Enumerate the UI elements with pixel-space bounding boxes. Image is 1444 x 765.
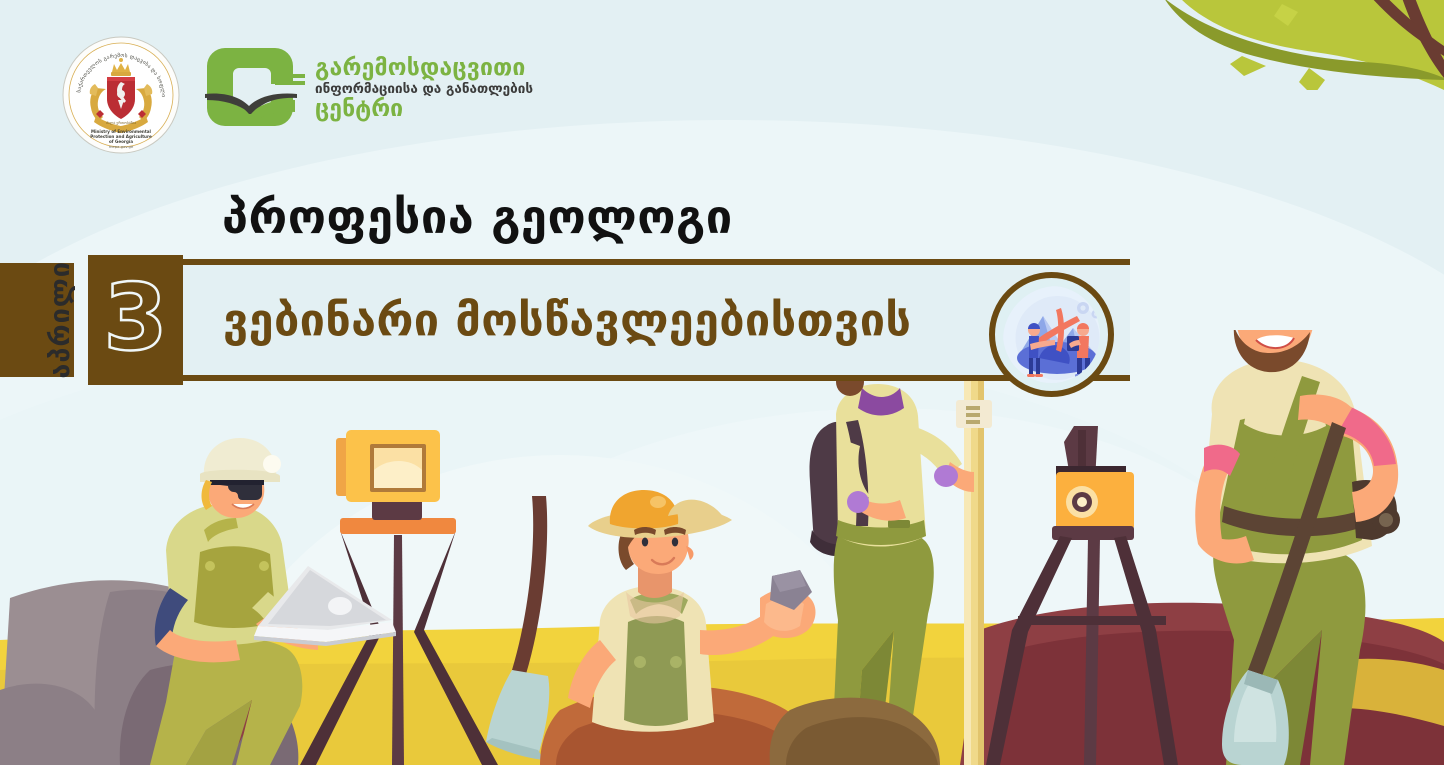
day-number-box: 3 xyxy=(88,255,183,385)
eiec-logo: გარემოსდაცვითი ინფორმაციისა და განათლები… xyxy=(205,44,533,132)
banner-canvas: საქართველოს გარემოს დაცვისა და სოფლის მე… xyxy=(0,0,1444,765)
month-label: აპრილი xyxy=(45,261,76,379)
geologists-mountain-icon-inner xyxy=(1003,286,1100,383)
logo-line-1: გარემოსდაცვითი xyxy=(315,57,533,80)
headline-bar: ვებინარი მოსწავლეებისთვის xyxy=(183,259,1130,381)
page-title: პროფესია გეოლოგი xyxy=(222,190,733,245)
banner-headline: ვებინარი მოსწავლეებისთვის xyxy=(223,294,911,347)
webinar-banner: აპრილი 3 ვებინარი მოსწავლეებისთვის xyxy=(0,255,1130,385)
logo-mark-icon xyxy=(205,44,305,132)
month-label-wrap: აპრილი xyxy=(34,263,86,377)
logo-line-3: ცენტრი xyxy=(315,98,533,121)
svg-text:mepa.gov.ge: mepa.gov.ge xyxy=(109,144,134,149)
geologists-mountain-icon xyxy=(989,272,1114,397)
day-number: 3 xyxy=(103,272,167,368)
logo-line-2: ინფორმაციისა და განათლების xyxy=(315,83,533,97)
geology-scene-illustration xyxy=(0,330,1444,765)
ministry-seal: საქართველოს გარემოს დაცვისა და სოფლის მე… xyxy=(62,36,180,154)
svg-text:ძალა ერთობაშია: ძალა ერთობაშია xyxy=(106,121,136,125)
page-header: საქართველოს გარემოს დაცვისა და სოფლის მე… xyxy=(0,0,1444,160)
shovel-left xyxy=(486,496,549,760)
